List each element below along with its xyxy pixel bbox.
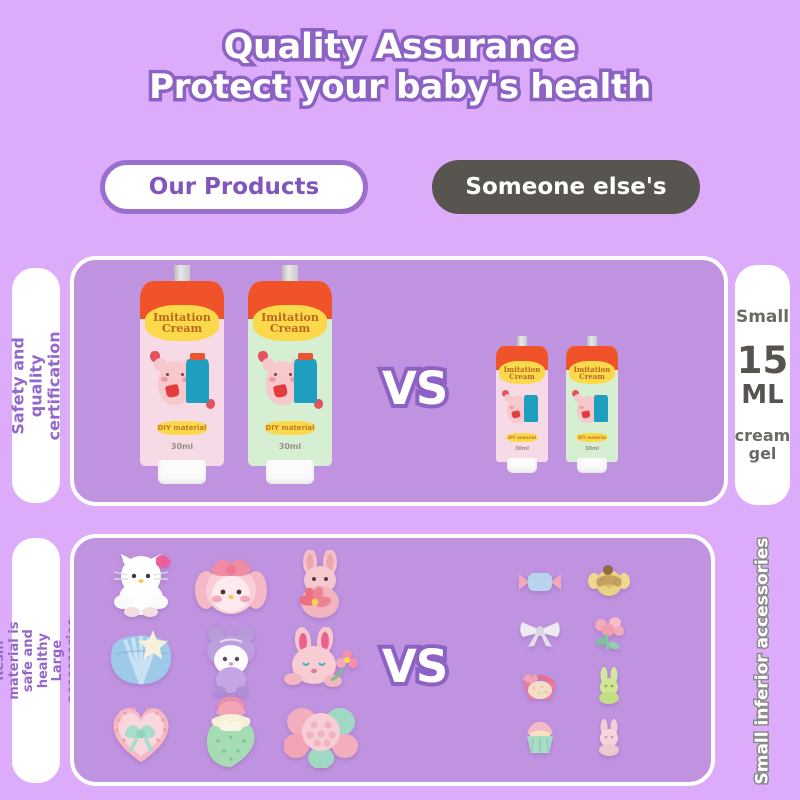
label-small-inferior-accessories-text: Small inferior accessories — [753, 537, 773, 784]
vs-label-cream: VS — [382, 362, 447, 415]
mini-blue-tube — [294, 359, 317, 403]
tube-volume: 30ml — [585, 446, 599, 452]
mini-blue-tube — [594, 395, 608, 422]
bear-cheek — [579, 406, 584, 409]
pink-heart-bow-charm — [96, 696, 186, 770]
tab-our-products[interactable]: Our Products — [100, 160, 368, 214]
pink-bunny-flowers-charm — [276, 622, 366, 696]
label-card-resin-accessories: Resin material is safe and healthy Large… — [12, 538, 60, 783]
spec-product-line-1: cream — [735, 426, 791, 445]
tube-cap — [266, 460, 314, 484]
tube-body: Imitation Cream DIY material 30ml — [248, 281, 332, 466]
bear-heart — [582, 410, 591, 419]
bear-cheek — [161, 377, 168, 382]
title-line-1: Quality Assurance — [0, 28, 800, 68]
bear-ear — [154, 358, 167, 371]
pink-bunny-hood-charm — [186, 548, 276, 622]
tube-volume: 30ml — [171, 442, 193, 451]
pink-basket-charm — [505, 660, 574, 712]
tube-cap — [158, 460, 206, 484]
mini-blue-tube-cap — [190, 353, 205, 360]
tube-brand-badge: Imitation Cream — [499, 361, 545, 384]
blue-candy-charm — [505, 556, 574, 608]
spec-product-label: cream gel — [735, 427, 791, 462]
yellow-donut-charm — [574, 556, 643, 608]
tube-volume-label: 30ml — [515, 446, 529, 452]
green-strawberry-charm — [186, 696, 276, 770]
label-small-inferior-accessories: Small inferior accessories — [735, 538, 790, 783]
spec-unit-label: ML — [741, 382, 783, 408]
label-safety-certification: Safety and quality certification — [9, 331, 63, 440]
tube-volume: 30ml — [279, 442, 301, 451]
brand-line-2: Cream — [162, 323, 202, 334]
bear-heart — [273, 384, 288, 398]
bear-heart — [512, 410, 521, 419]
bear-eye — [166, 373, 169, 376]
tube-volume-label: 30ml — [279, 442, 301, 451]
tube-cap — [577, 458, 607, 473]
brand-line-2: Cream — [509, 373, 535, 380]
cream-tube-pink: Imitation Cream DIY material 30ml — [140, 265, 224, 480]
tab-our-products-label: Our Products — [149, 174, 319, 200]
spec-product-line-2: gel — [749, 444, 777, 463]
bear-cheek — [509, 406, 514, 409]
purple-bear-charm — [186, 622, 276, 696]
tube-diy-badge: DIY material — [507, 433, 538, 442]
brand-line-2: Cream — [270, 323, 310, 334]
bear-ear — [504, 394, 512, 402]
bear-ear — [262, 358, 275, 371]
mini-blue-tube — [524, 395, 538, 422]
tube-brand-badge: Imitation Cream — [569, 361, 615, 384]
tube-diy-badge: DIY material — [157, 421, 207, 435]
page-title: Quality Assurance Protect your baby's he… — [0, 28, 800, 107]
diy-badge-label: DIY material — [265, 424, 314, 432]
label-card-safety-certification: Safety and quality certification — [12, 268, 60, 503]
bear-cheek — [269, 377, 276, 382]
tube-body: Imitation Cream DIY material 30ml — [496, 346, 548, 462]
pink-flower-charm — [574, 608, 643, 660]
tube-cap — [507, 458, 537, 473]
diy-badge-label: DIY material — [157, 424, 206, 432]
bear-eye — [289, 373, 292, 376]
tube-volume-label: 30ml — [585, 446, 599, 452]
pink-green-flower-charm — [276, 696, 366, 770]
cupcake-charm — [505, 712, 574, 764]
spec-amount-value: 15 — [737, 342, 789, 379]
label-safety-line-1: Safety and quality — [8, 337, 45, 434]
tab-someone-elses-label: Someone else's — [465, 174, 666, 200]
tube-diy-badge: DIY material — [265, 421, 315, 435]
bear-heart — [165, 384, 180, 398]
tab-someone-elses[interactable]: Someone else's — [432, 160, 700, 214]
vs-label-accessories: VS — [382, 640, 447, 693]
white-cat-charm — [96, 548, 186, 622]
comparison-tabs: Our Products Someone else's — [0, 160, 800, 216]
mini-blue-tube-cap — [298, 353, 313, 360]
tube-body: Imitation Cream DIY material 30ml — [140, 281, 224, 466]
our-accessories-grid — [96, 548, 366, 770]
title-line-2: Protect your baby's health — [0, 68, 800, 107]
mini-blue-tube — [186, 359, 209, 403]
bear-ear — [574, 394, 582, 402]
label-safety-line-2: certification — [44, 331, 63, 440]
cream-tube-pink-small: Imitation Cream DIY material 30ml — [496, 336, 548, 470]
tube-brand-badge: Imitation Cream — [253, 305, 327, 341]
spec-card-cream-size: Small 15 ML cream gel — [735, 265, 790, 505]
green-bunny-charm — [574, 660, 643, 712]
tube-brand-badge: Imitation Cream — [145, 305, 219, 341]
blue-shell-star-charm — [96, 622, 186, 696]
bear-eye — [274, 373, 277, 376]
tube-volume-label: 30ml — [171, 442, 193, 451]
bear-eye — [181, 373, 184, 376]
spec-size-label: Small — [736, 307, 789, 327]
label-resin-accessories: Resin material is safe and healthy Large… — [0, 618, 80, 703]
cream-tube-green: Imitation Cream DIY material 30ml — [248, 265, 332, 480]
diy-badge-label: DIY material — [508, 435, 536, 440]
tube-volume: 30ml — [515, 446, 529, 452]
white-bow-charm — [505, 608, 574, 660]
pink-rabbit-small-charm — [574, 712, 643, 764]
tube-body: Imitation Cream DIY material 30ml — [566, 346, 618, 462]
their-accessories-grid — [505, 556, 643, 764]
tube-diy-badge: DIY material — [577, 433, 608, 442]
pink-rabbit-flower-charm — [276, 548, 366, 622]
brand-line-2: Cream — [579, 373, 605, 380]
label-resin-line-1: Resin material is safe and — [0, 621, 35, 699]
cream-tube-green-small: Imitation Cream DIY material 30ml — [566, 336, 618, 470]
diy-badge-label: DIY material — [578, 435, 606, 440]
